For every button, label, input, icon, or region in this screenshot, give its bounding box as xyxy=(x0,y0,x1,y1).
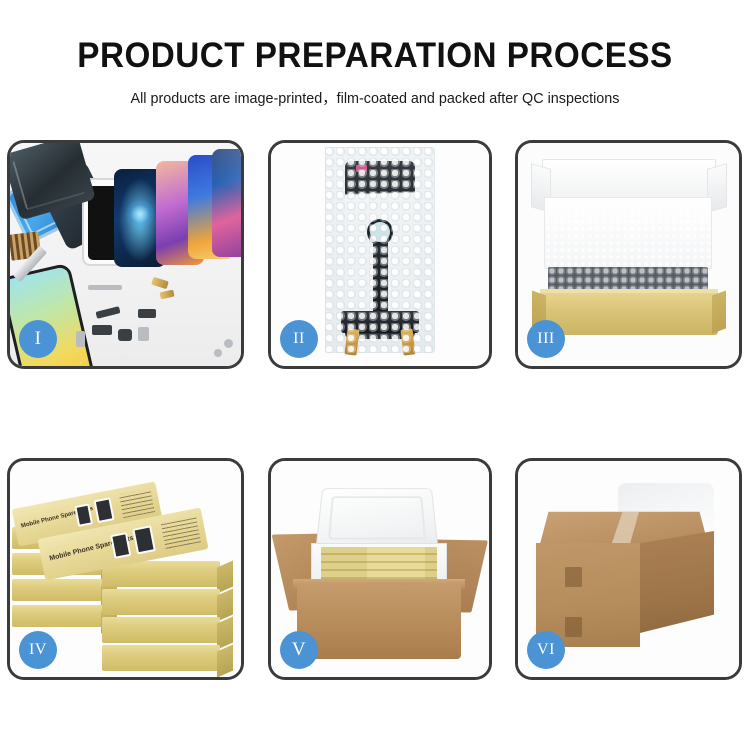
shipping-carton-front xyxy=(297,585,461,659)
step-badge-2: II xyxy=(280,320,318,358)
product-preparation-process-page: PRODUCT PREPARATION PROCESS All products… xyxy=(0,0,750,750)
small-part-dark-c xyxy=(118,329,132,341)
display-assembly-pink xyxy=(212,149,241,257)
step-panel-1[interactable]: I xyxy=(7,140,244,369)
kraft-box-front xyxy=(540,293,718,335)
retail-box-l4 xyxy=(12,605,104,627)
step-panel-5[interactable]: V xyxy=(268,458,492,680)
retail-box-l3 xyxy=(12,579,104,601)
small-part-dark-d xyxy=(138,309,156,318)
step-badge-4: IV xyxy=(19,631,57,669)
styrofoam-lid xyxy=(315,488,438,549)
step-panel-6[interactable]: VI xyxy=(515,458,742,680)
process-steps-grid: I II xyxy=(0,0,750,750)
pink-label xyxy=(356,165,367,172)
step-badge-5: V xyxy=(280,631,318,669)
retail-box-r3 xyxy=(102,617,220,643)
carton-seam-lower xyxy=(565,617,582,637)
box-checklist-2 xyxy=(161,516,201,549)
small-part-light-b xyxy=(76,331,85,347)
box-screen-photo-1b xyxy=(94,497,115,523)
small-part-light-a xyxy=(138,327,149,341)
small-part-screw-a xyxy=(224,339,233,348)
white-foam-sheet xyxy=(544,197,712,269)
small-part-strip xyxy=(88,285,122,290)
step-panel-3[interactable]: III xyxy=(515,140,742,369)
step-badge-3: III xyxy=(527,320,565,358)
carton-seam-upper xyxy=(565,567,582,587)
retail-box-r4 xyxy=(102,645,220,671)
flex-cable-pad xyxy=(367,219,393,245)
small-part-screw-b xyxy=(214,349,222,357)
box-checklist-1 xyxy=(119,488,155,518)
box-screen-photo-2b xyxy=(132,525,156,554)
step-panel-4[interactable]: Mobile Phone Spare Parts Mobile Phone Sp… xyxy=(7,458,244,680)
step-panel-2[interactable]: II xyxy=(268,140,492,369)
step-badge-6: VI xyxy=(527,631,565,669)
step-badge-1: I xyxy=(19,320,57,358)
small-part-dark-b xyxy=(92,325,112,335)
retail-box-r2 xyxy=(102,589,220,615)
